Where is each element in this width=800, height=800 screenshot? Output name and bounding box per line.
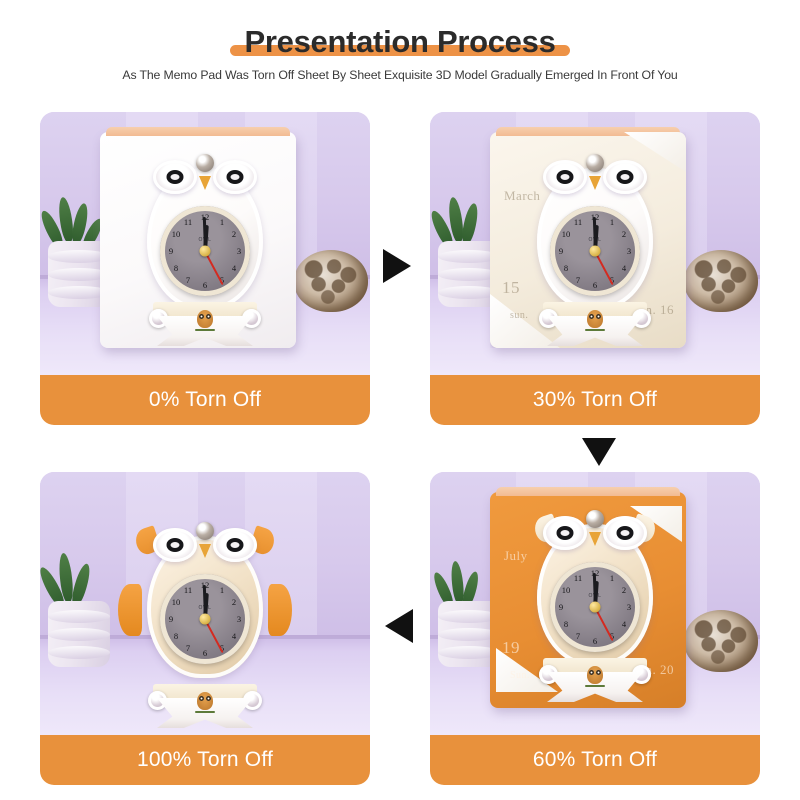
- owl-eye-left: [543, 516, 587, 550]
- owl-eye-left: [153, 528, 197, 562]
- memo-pad-clock: March 15 sun. Mon. 16 OWL: [490, 124, 700, 364]
- product-photo: OWL 12 1 2 3 4 5 6 7 8 9 10: [40, 112, 370, 375]
- pad-day-label: Sun.: [510, 670, 530, 681]
- product-photo: July 19 Sun. Mon. 20: [430, 472, 760, 735]
- owl-badge-icon: [194, 308, 216, 334]
- panel-caption: 0% Torn Off: [40, 375, 370, 425]
- pad-month: July: [504, 548, 528, 564]
- owl-clock: OWL 121 23 45 67 89 1011: [529, 506, 661, 702]
- owl-badge-icon: [194, 690, 216, 716]
- arrow-right-icon: [383, 249, 411, 283]
- pad-day: 15: [502, 278, 520, 298]
- owl-eyes: [153, 158, 257, 198]
- page-title-wrap: Presentation Process: [0, 24, 800, 60]
- product-photo: March 15 sun. Mon. 16 OWL: [430, 112, 760, 375]
- owl-eye-right: [213, 160, 257, 194]
- panel-caption: 100% Torn Off: [40, 735, 370, 785]
- panel-caption: 60% Torn Off: [430, 735, 760, 785]
- arrow-down-icon: [582, 438, 616, 466]
- panel-0-percent[interactable]: OWL 12 1 2 3 4 5 6 7 8 9 10: [40, 112, 370, 425]
- clock-hub: [200, 246, 211, 257]
- owl-wing-right: [268, 584, 292, 636]
- clock-dial: OWL 121 23 45 67 89 1011: [550, 206, 640, 296]
- memo-pad-clock: July 19 Sun. Mon. 20: [490, 484, 700, 724]
- alarm-knob: [586, 154, 604, 172]
- owl-wing-left: [118, 584, 142, 636]
- panel-100-percent[interactable]: OWL 121 23 45 67 89 1011: [40, 472, 370, 785]
- owl-clock: OWL 121 23 45 67 89 1011: [130, 518, 280, 728]
- clock-dial: OWL 12 1 2 3 4 5 6 7 8 9 10: [160, 206, 250, 296]
- owl-clock: OWL 12 1 2 3 4 5 6 7 8 9 10: [139, 150, 271, 346]
- owl-eye-left: [543, 160, 587, 194]
- memo-pad-clock: OWL 12 1 2 3 4 5 6 7 8 9 10: [100, 124, 310, 364]
- owl-beak: [589, 532, 601, 546]
- owl-beak: [199, 544, 211, 558]
- page-subtitle: As The Memo Pad Was Torn Off Sheet By Sh…: [0, 68, 800, 82]
- panel-30-percent[interactable]: March 15 sun. Mon. 16 OWL: [430, 112, 760, 425]
- owl-badge-icon: [584, 308, 606, 334]
- page-title: Presentation Process: [244, 24, 555, 59]
- alarm-knob: [196, 522, 214, 540]
- arrow-left-icon: [385, 609, 413, 643]
- pad-day-label: sun.: [510, 310, 528, 321]
- owl-badge-icon: [584, 664, 606, 690]
- owl-eye-right: [213, 528, 257, 562]
- owl-eye-left: [153, 160, 197, 194]
- owl-eye-right: [603, 160, 647, 194]
- product-photo: OWL 121 23 45 67 89 1011: [40, 472, 370, 735]
- panel-60-percent[interactable]: July 19 Sun. Mon. 20: [430, 472, 760, 785]
- owl-clock-standalone: OWL 121 23 45 67 89 1011: [100, 484, 310, 724]
- pad-day: 19: [502, 638, 520, 658]
- owl-beak: [589, 176, 601, 190]
- panel-caption: 30% Torn Off: [430, 375, 760, 425]
- owl-eye-right: [603, 516, 647, 550]
- alarm-knob: [196, 154, 214, 172]
- owl-beak: [199, 176, 211, 190]
- infographic-page: Presentation Process As The Memo Pad Was…: [0, 0, 800, 800]
- alarm-knob: [586, 510, 604, 528]
- clock-dial: OWL 121 23 45 67 89 1011: [160, 574, 250, 664]
- header: Presentation Process As The Memo Pad Was…: [0, 0, 800, 100]
- clock-dial: OWL 121 23 45 67 89 1011: [550, 562, 640, 652]
- owl-clock: OWL 121 23 45 67 89 1011: [529, 150, 661, 346]
